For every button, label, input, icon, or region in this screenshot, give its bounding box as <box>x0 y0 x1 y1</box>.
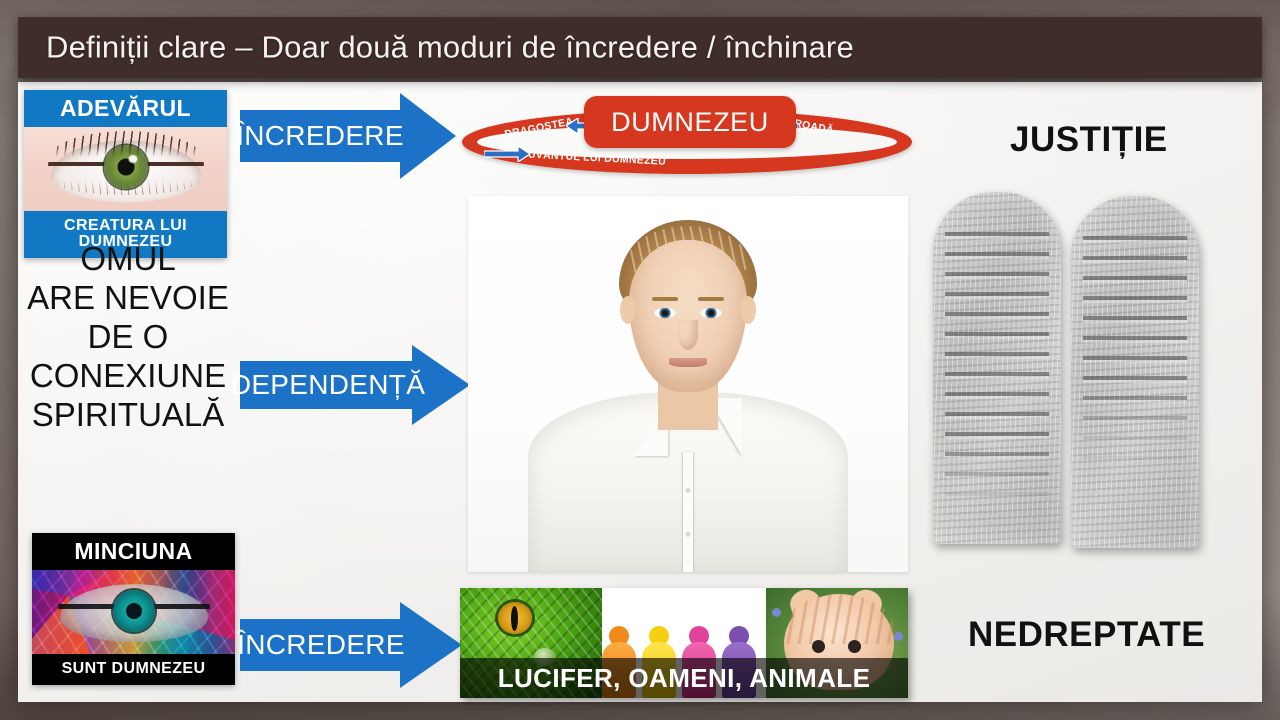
heading-nedreptate: NEDREPTATE <box>968 615 1205 655</box>
arrow-incredere-top-label: ÎNCREDERE <box>240 93 400 179</box>
truth-card-header: ADEVĂRUL <box>24 90 227 127</box>
lie-card-header: MINCIUNA <box>32 533 235 570</box>
statement-line-2: ARE NEVOIE <box>8 279 248 318</box>
arrow-dependenta-label: DEPENDENȚĂ <box>240 345 416 425</box>
lie-card-footer: SUNT DUMNEZEU <box>32 654 235 685</box>
bottom-image-strip: LUCIFER, OAMENI, ANIMALE <box>460 588 908 698</box>
stone-tablet-left <box>933 192 1061 544</box>
slide-title-bar: Definiții clare – Doar două moduri de în… <box>18 17 1262 78</box>
truth-card: ADEVĂRUL CREATURA LUI DUMNEZEU <box>24 90 227 258</box>
statement-line-3: DE O <box>8 318 248 357</box>
portrait-young-man-white-shirt <box>468 196 908 572</box>
god-relationship-diagram: DRAGOSTEA ROADĂ CUVÂNTUL LUI DUMNEZEU DU… <box>462 96 918 182</box>
page-title: Definiții clare – Doar două moduri de în… <box>46 29 854 65</box>
lie-card: MINCIUNA SUNT DUMNEZEU <box>32 533 235 685</box>
god-center-box: DUMNEZEU <box>584 96 796 148</box>
bottom-strip-caption: LUCIFER, OAMENI, ANIMALE <box>460 658 908 698</box>
statement-line-4: CONEXIUNE <box>8 357 248 396</box>
arrow-incredere-top: ÎNCREDERE <box>240 93 456 179</box>
statement-line-5: SPIRITUALĂ <box>8 396 248 435</box>
natural-green-eye-photo <box>24 127 227 211</box>
stone-tablets-ten-commandments <box>925 192 1205 558</box>
slide-root: Definiții clare – Doar două moduri de în… <box>0 0 1280 720</box>
left-statement-text: OMUL ARE NEVOIE DE O CONEXIUNE SPIRITUAL… <box>8 240 248 435</box>
mosaic-colorful-eye-art <box>32 570 235 654</box>
arrow-incredere-bottom-label: ÎNCREDERE <box>240 600 402 690</box>
stone-tablet-right <box>1071 196 1199 548</box>
right-arrow-icon-cuvantul <box>484 146 530 162</box>
god-center-label: DUMNEZEU <box>611 107 769 138</box>
heading-justitie: JUSTIȚIE <box>1010 120 1168 160</box>
arrow-incredere-bottom: ÎNCREDERE <box>240 600 462 690</box>
statement-line-1: OMUL <box>8 240 248 279</box>
arrow-dependenta: DEPENDENȚĂ <box>240 345 470 425</box>
